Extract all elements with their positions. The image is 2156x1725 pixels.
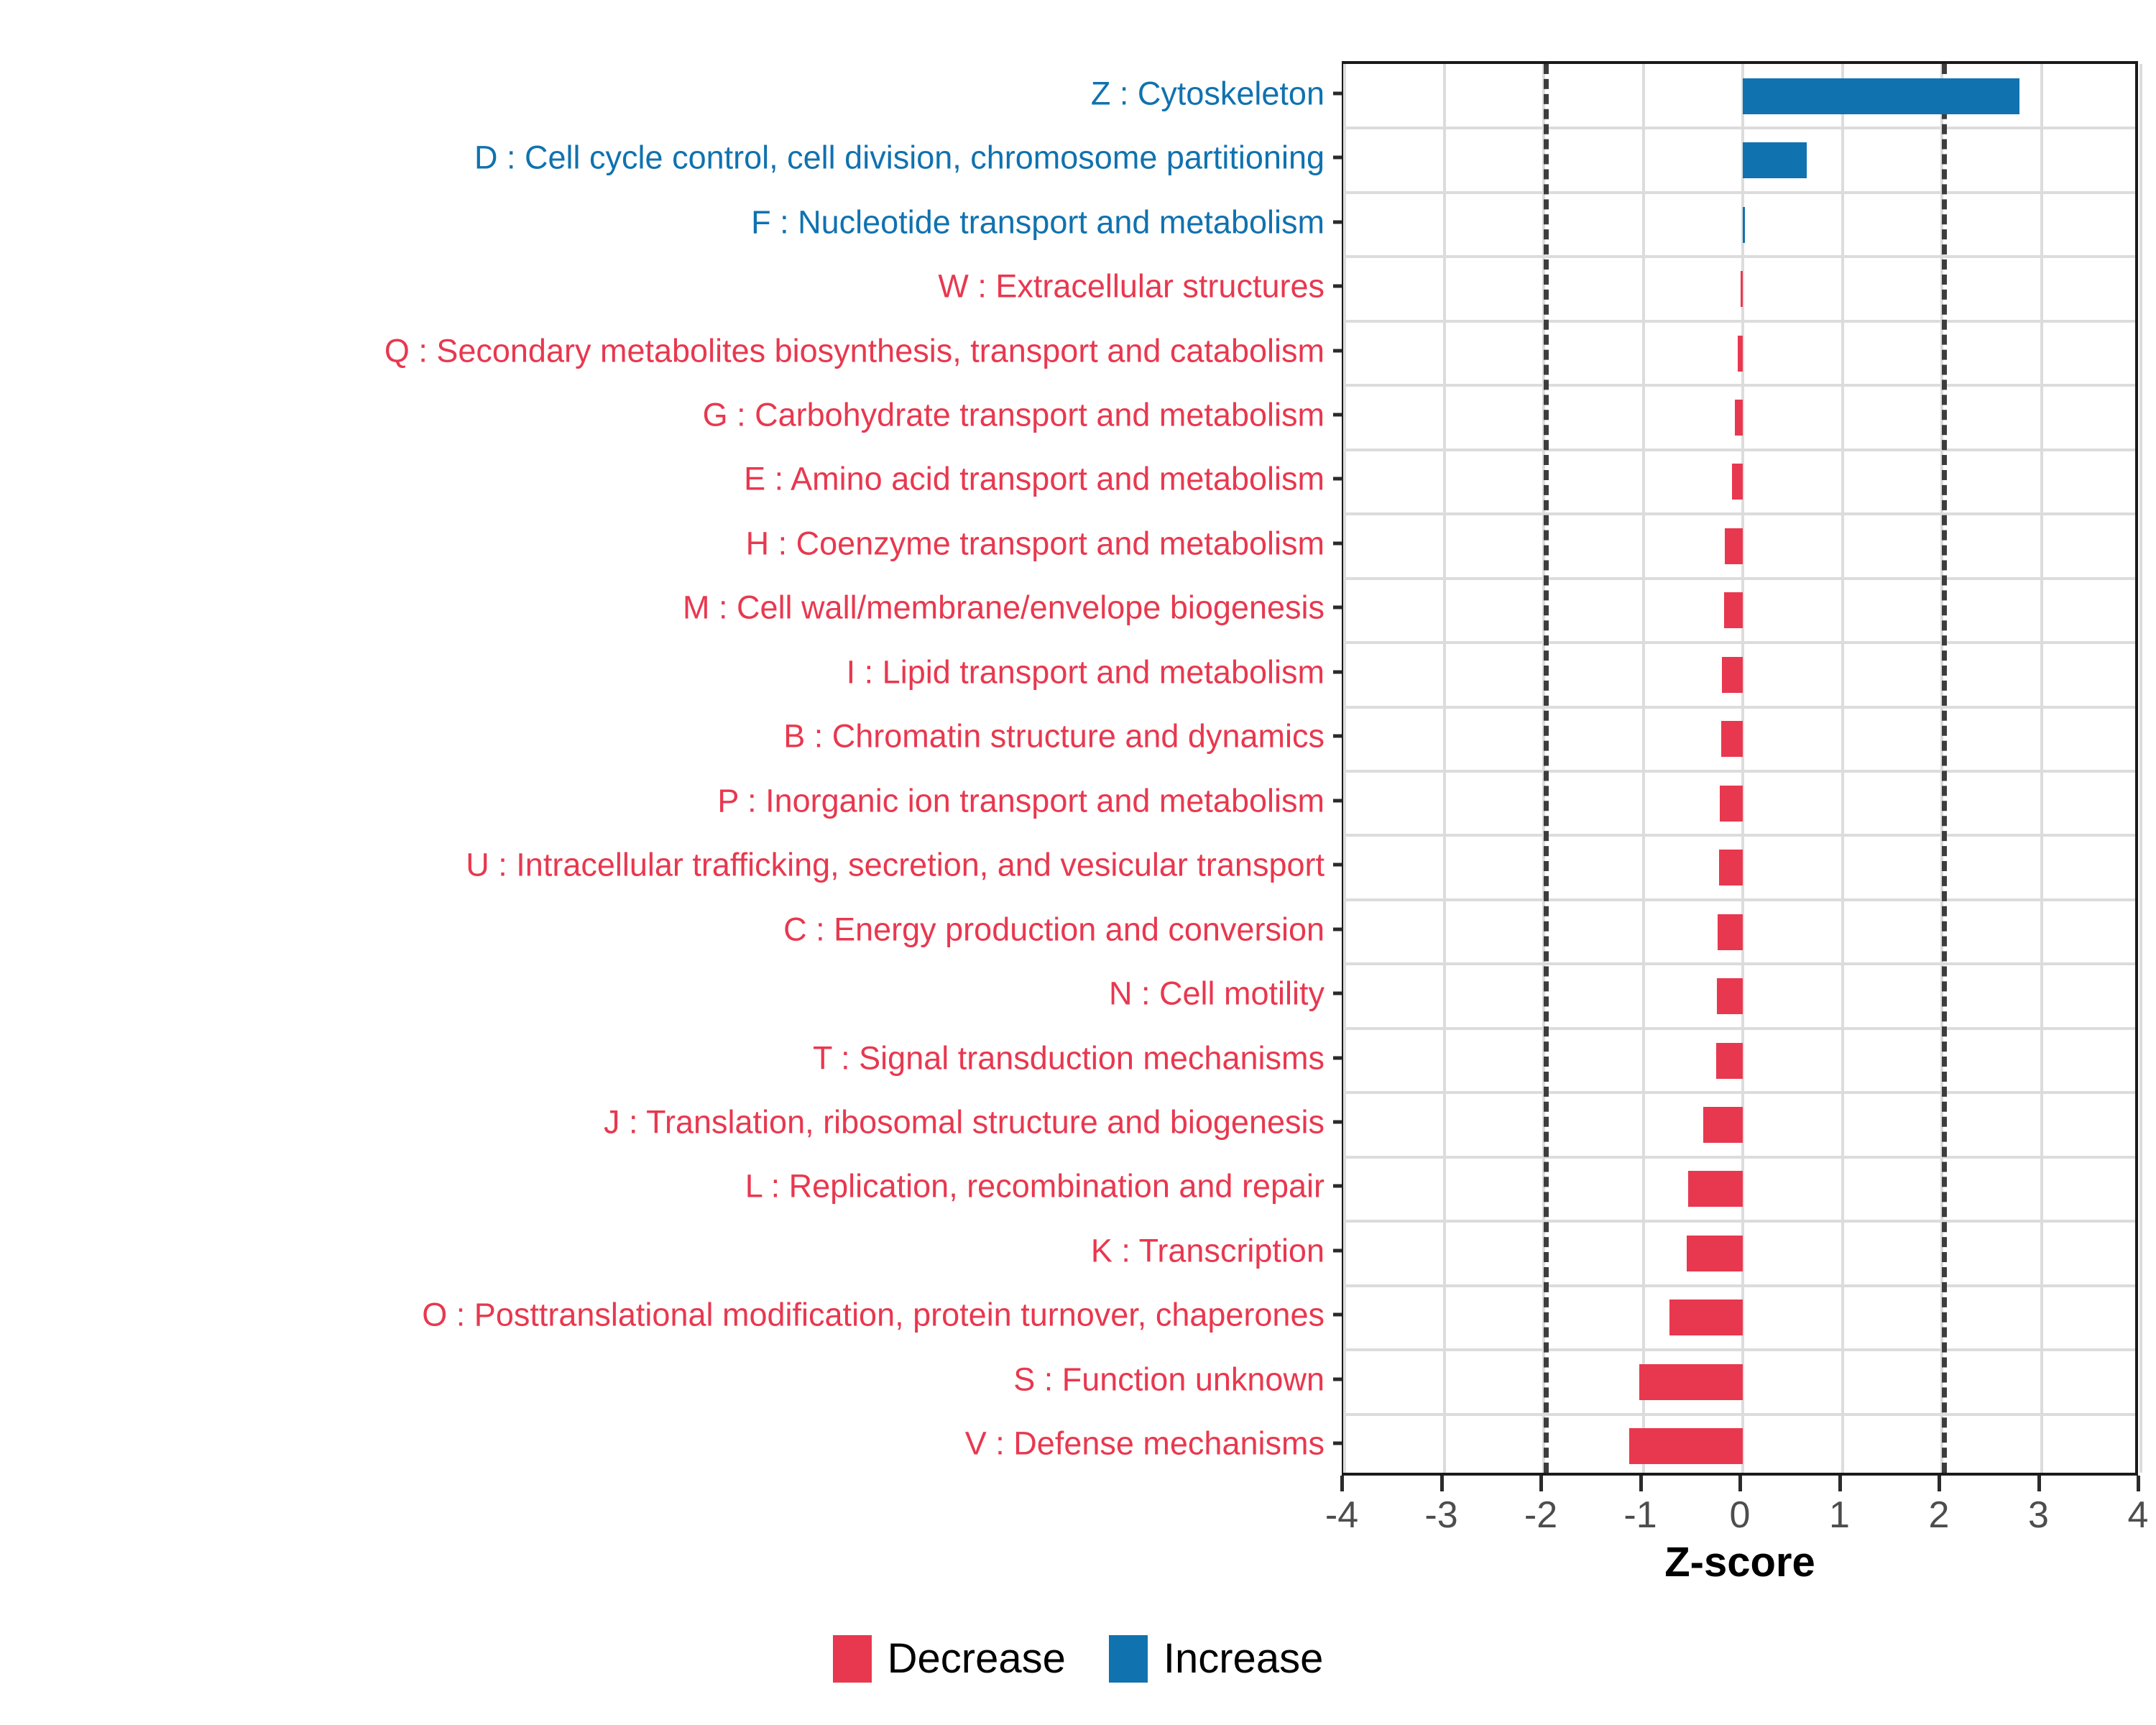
y-axis-label: L : Replication, recombination and repai… (745, 1170, 1325, 1202)
gridline-horizontal (1345, 191, 2135, 194)
gridline-horizontal (1345, 962, 2135, 965)
bar (1703, 1107, 1743, 1143)
gridline-vertical (1443, 64, 1446, 1473)
bar (1719, 850, 1743, 885)
y-axis-label: W : Extracellular structures (938, 270, 1325, 303)
y-axis-label: J : Translation, ribosomal structure and… (604, 1106, 1325, 1138)
y-axis-label: C : Energy production and conversion (783, 913, 1325, 945)
bar (1669, 1299, 1743, 1335)
gridline-horizontal (1345, 1156, 2135, 1159)
gridline-horizontal (1345, 641, 2135, 644)
x-axis-tick (2037, 1476, 2041, 1491)
y-axis-label: B : Chromatin structure and dynamics (783, 720, 1325, 753)
x-axis-tick-label: 2 (1929, 1494, 1950, 1537)
x-axis-tick-label: 3 (2028, 1494, 2049, 1537)
x-axis-tick-label: -2 (1524, 1494, 1557, 1537)
gridline-vertical (2040, 64, 2043, 1473)
bar (1721, 721, 1743, 757)
gridline-horizontal (1345, 1284, 2135, 1287)
y-axis-label: S : Function unknown (1013, 1363, 1325, 1395)
x-axis-tick (1440, 1476, 1444, 1491)
gridline-horizontal (1345, 834, 2135, 837)
gridline-vertical (1841, 64, 1844, 1473)
bar (1717, 978, 1743, 1014)
bar (1722, 657, 1743, 693)
y-axis-label: H : Coenzyme transport and metabolism (746, 527, 1325, 559)
reference-line (1544, 64, 1549, 1473)
gridline-horizontal (1345, 770, 2135, 773)
y-axis-label: Z : Cytoskeleton (1091, 77, 1325, 109)
x-axis-title: Z-score (1342, 1538, 2138, 1586)
x-axis-tick-label: -1 (1623, 1494, 1657, 1537)
gridline-horizontal (1345, 1027, 2135, 1030)
gridline-vertical (1642, 64, 1645, 1473)
x-axis-tick (1838, 1476, 1842, 1491)
y-axis-label: K : Transcription (1091, 1234, 1325, 1266)
y-axis-category-labels: Z : CytoskeletonD : Cell cycle control, … (0, 61, 1333, 1476)
gridline-horizontal (1345, 577, 2135, 580)
bar (1743, 142, 1807, 178)
y-axis-label: M : Cell wall/membrane/envelope biogenes… (683, 592, 1325, 624)
y-axis-label: F : Nucleotide transport and metabolism (751, 206, 1325, 238)
gridline-horizontal (1345, 448, 2135, 451)
y-axis-label: N : Cell motility (1109, 977, 1325, 1010)
x-axis-tick (1539, 1476, 1543, 1491)
x-axis-tick-label: 1 (1829, 1494, 1850, 1537)
bar (1738, 336, 1743, 372)
y-axis-label: P : Inorganic ion transport and metaboli… (717, 784, 1325, 816)
gridline-horizontal (1345, 320, 2135, 323)
x-axis-tick (1340, 1476, 1344, 1491)
gridline-vertical (2139, 64, 2142, 1473)
bar (1725, 528, 1743, 564)
x-axis-tick-label: 0 (1730, 1494, 1751, 1537)
reference-line (1942, 64, 1947, 1473)
bar (1735, 400, 1743, 436)
gridline-horizontal (1345, 1091, 2135, 1094)
legend-label-increase: Increase (1164, 1638, 1323, 1680)
bar (1687, 1236, 1743, 1271)
y-axis-label: I : Lipid transport and metabolism (847, 655, 1325, 688)
y-axis-label: Q : Secondary metabolites biosynthesis, … (384, 334, 1325, 367)
bar (1724, 592, 1743, 628)
legend-item-increase[interactable]: Increase (1109, 1635, 1323, 1683)
legend-swatch-increase (1109, 1635, 1148, 1683)
bar (1743, 78, 2019, 114)
gridline-horizontal (1345, 126, 2135, 129)
y-axis-label: D : Cell cycle control, cell division, c… (474, 142, 1325, 174)
bar (1639, 1364, 1743, 1400)
x-axis-tick (2137, 1476, 2140, 1491)
gridline-horizontal (1345, 1220, 2135, 1223)
chart-figure: Z : CytoskeletonD : Cell cycle control, … (0, 0, 2156, 1725)
gridline-horizontal (1345, 1348, 2135, 1351)
legend-swatch-decrease (833, 1635, 872, 1683)
plot-area (1342, 61, 2138, 1476)
y-axis-label: T : Signal transduction mechanisms (813, 1041, 1325, 1074)
bar (1720, 786, 1743, 822)
gridline-horizontal (1345, 898, 2135, 901)
bar (1716, 1043, 1743, 1079)
bar (1688, 1171, 1743, 1207)
x-axis-tick (1639, 1476, 1643, 1491)
gridline-horizontal (1345, 384, 2135, 387)
x-axis-tick (1938, 1476, 1941, 1491)
x-axis-tick-label: -3 (1424, 1494, 1457, 1537)
bar (1741, 271, 1743, 307)
x-axis-tick-label: 4 (2128, 1494, 2149, 1537)
y-axis-label: V : Defense mechanisms (965, 1427, 1325, 1460)
gridline-vertical (1343, 64, 1346, 1473)
legend-item-decrease[interactable]: Decrease (833, 1635, 1066, 1683)
gridline-horizontal (1345, 512, 2135, 515)
gridline-horizontal (1345, 1413, 2135, 1416)
x-axis-tick-label: -4 (1325, 1494, 1358, 1537)
y-axis-label: G : Carbohydrate transport and metabolis… (703, 399, 1325, 431)
legend-label-decrease: Decrease (888, 1638, 1066, 1680)
bar (1718, 914, 1743, 950)
y-axis-label: U : Intracellular trafficking, secretion… (466, 849, 1325, 881)
gridline-horizontal (1345, 706, 2135, 709)
y-axis-label: O : Posttranslational modification, prot… (422, 1299, 1325, 1331)
gridline-horizontal (1345, 255, 2135, 258)
legend: Decrease Increase (0, 1635, 2156, 1683)
bar (1732, 464, 1743, 500)
x-axis-tick (1738, 1476, 1742, 1491)
bar (1629, 1428, 1743, 1464)
y-axis-label: E : Amino acid transport and metabolism (744, 463, 1325, 495)
bar (1743, 207, 1745, 243)
